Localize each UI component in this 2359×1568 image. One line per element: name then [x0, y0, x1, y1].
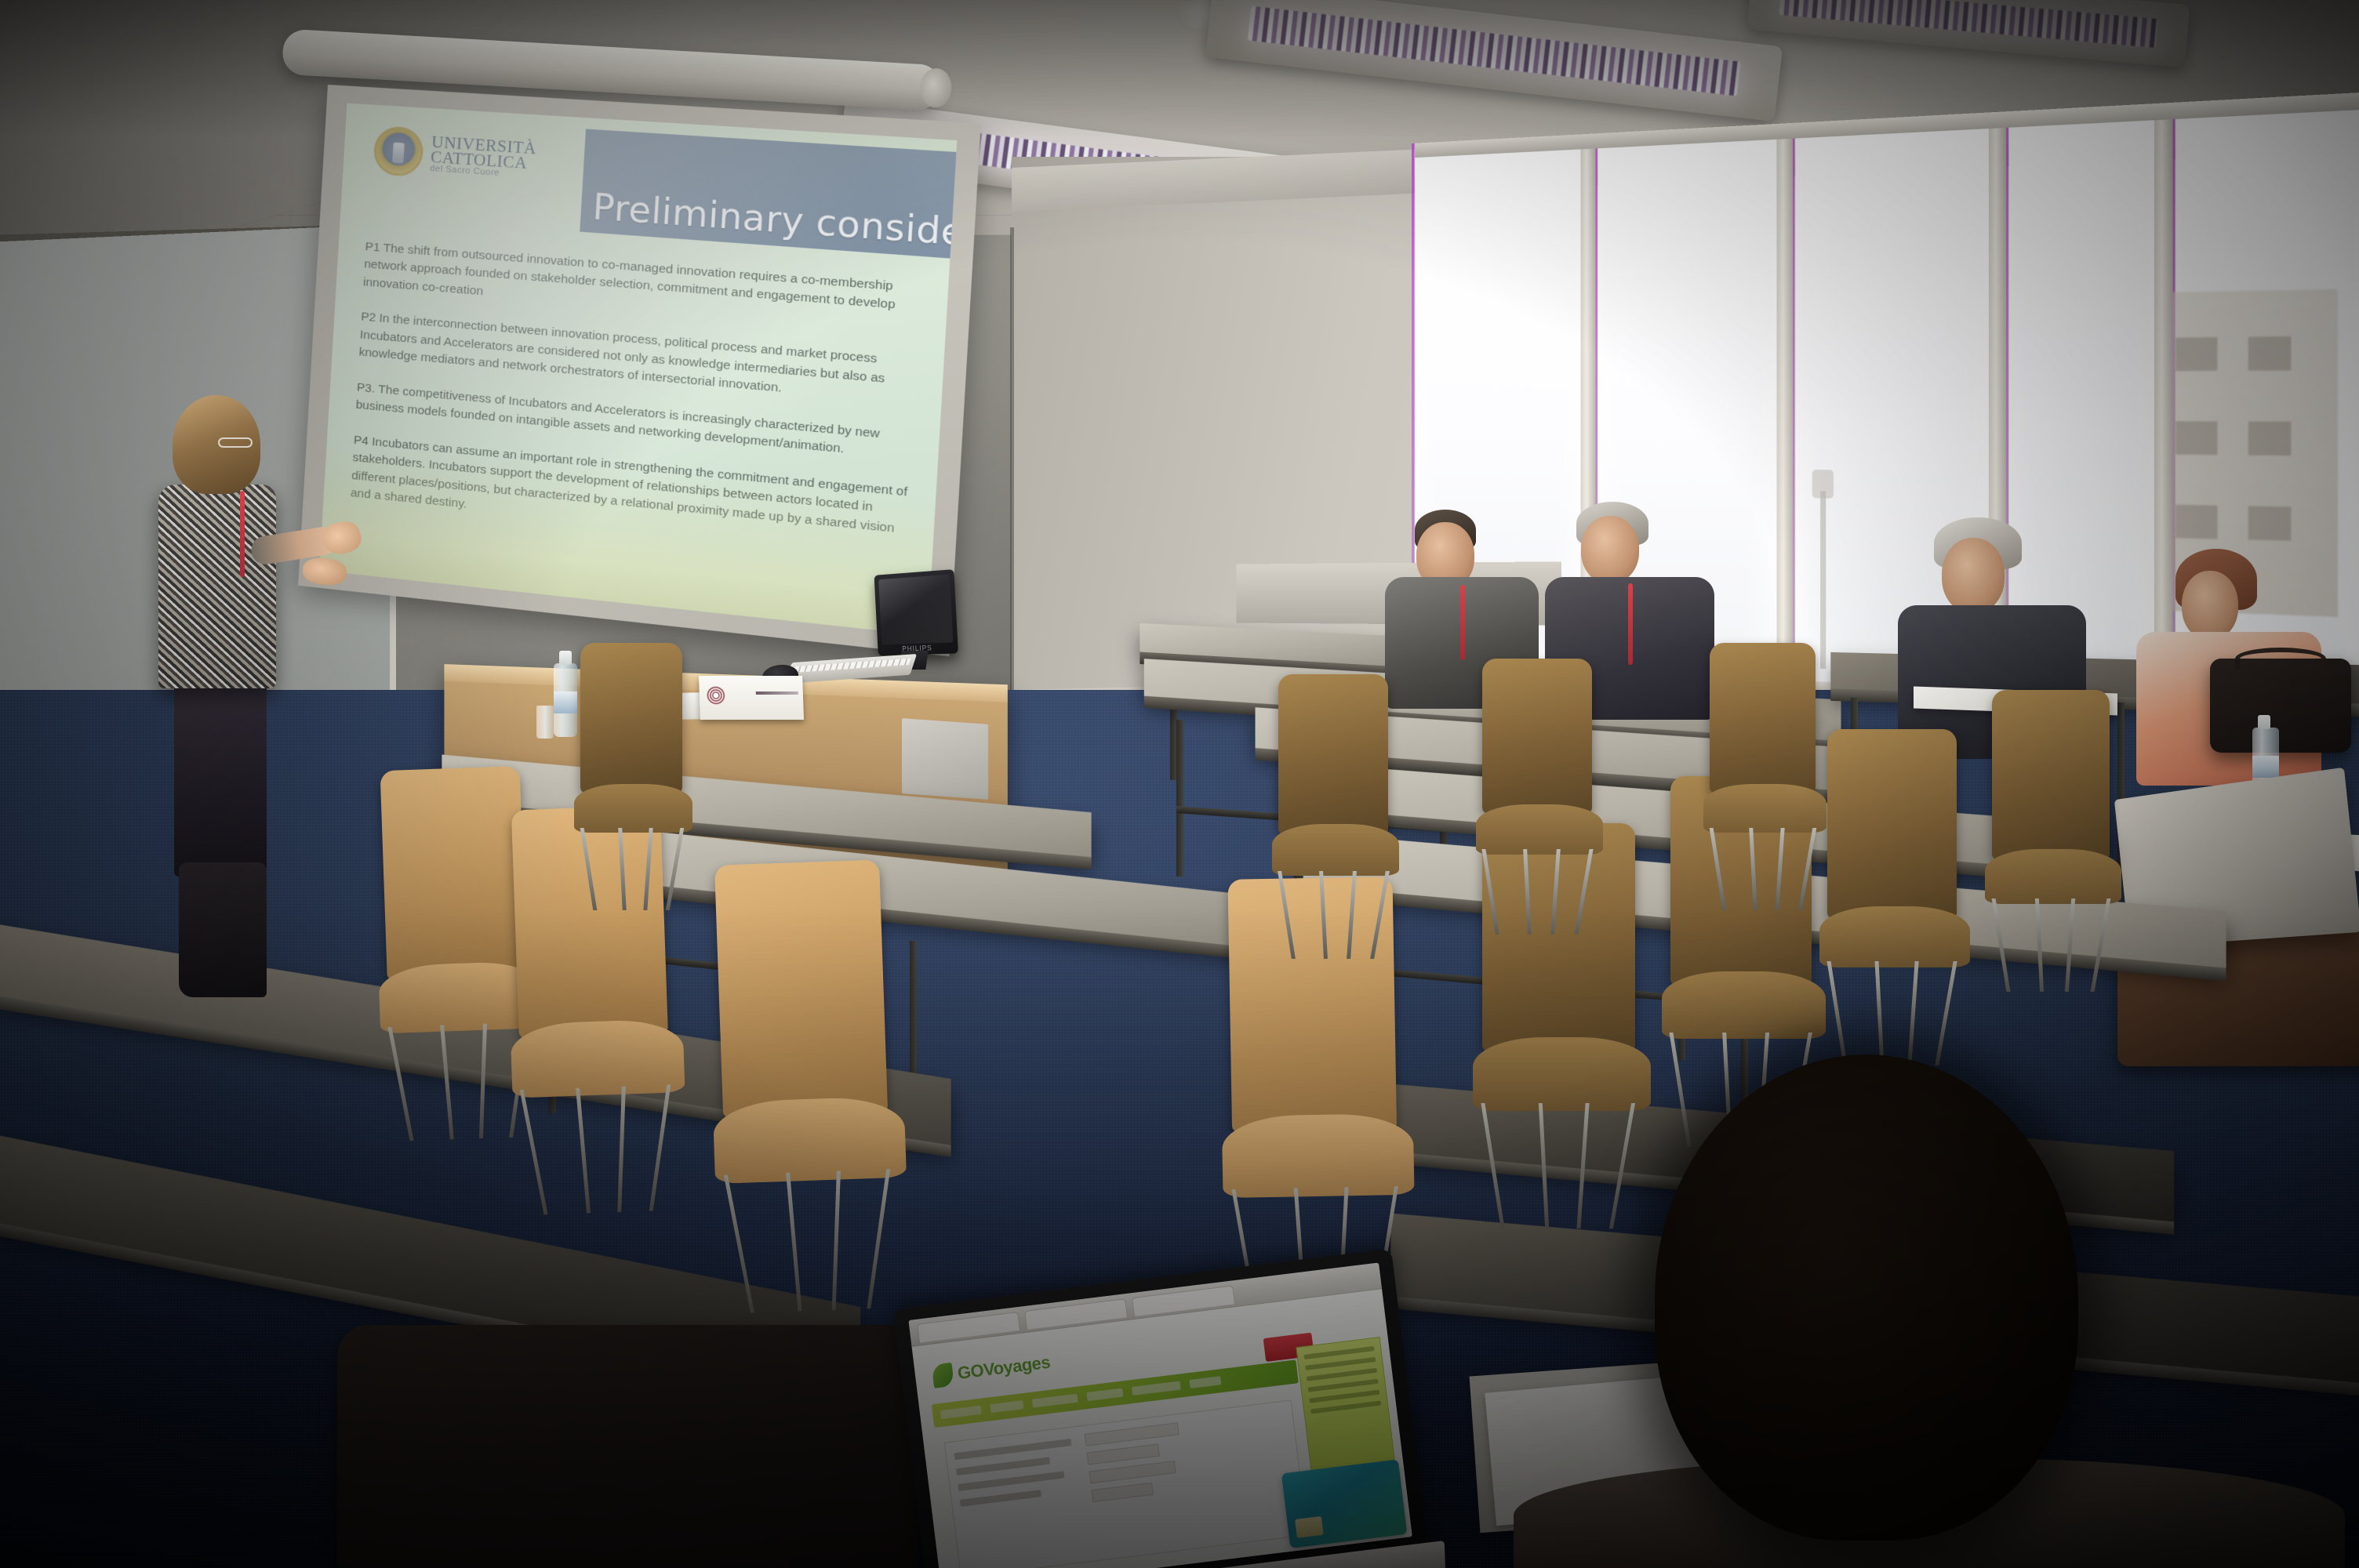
payment-card-graphic: [1281, 1459, 1408, 1548]
university-logo: UNIVERSITÀ CATTOLICA del Sacro Cuore: [373, 125, 537, 185]
handbag: [2210, 659, 2351, 753]
legs: [174, 674, 267, 877]
lamppost-outside: [1820, 491, 1826, 669]
computer-monitor: PHILIPS: [874, 569, 958, 655]
head: [1581, 516, 1639, 583]
laptop-screen[interactable]: GOVoyages: [908, 1263, 1412, 1568]
foreground-person-head: [1655, 1054, 2078, 1541]
backpack: [337, 1325, 918, 1568]
presentation-slide: UNIVERSITÀ CATTOLICA del Sacro Cuore Pre…: [319, 103, 957, 636]
chair[interactable]: [1278, 674, 1388, 933]
slide-body: P1 The shift from outsourced innovation …: [349, 238, 922, 576]
head: [2182, 571, 2238, 640]
site-name: GOVoyages: [957, 1352, 1052, 1384]
booking-form[interactable]: [944, 1399, 1308, 1568]
lanyard: [240, 491, 245, 577]
name-card: [699, 676, 804, 720]
chair[interactable]: [1482, 659, 1592, 909]
seal-icon: [706, 686, 725, 705]
head: [1942, 538, 2005, 613]
leaf-icon: [932, 1363, 954, 1388]
water-bottle: [554, 663, 577, 737]
lanyard: [1628, 583, 1633, 665]
chair[interactable]: [1992, 690, 2110, 964]
chair[interactable]: [1710, 643, 1816, 886]
chair[interactable]: [714, 859, 893, 1272]
chair[interactable]: [380, 766, 532, 1108]
chair[interactable]: [1827, 729, 1957, 1035]
site-logo: GOVoyages: [932, 1351, 1052, 1388]
desk-side-panel: [902, 718, 988, 800]
presenter-person: [132, 392, 328, 988]
slide-title: Preliminary considerations: [591, 187, 957, 264]
plastic-cup: [536, 706, 554, 739]
crest-icon: [373, 125, 424, 177]
jacket: [158, 485, 276, 688]
lanyard: [1460, 585, 1465, 660]
chair[interactable]: [580, 643, 682, 886]
slide-title-band: Preliminary considerations: [580, 129, 957, 267]
classroom-scene: UNIVERSITÀ CATTOLICA del Sacro Cuore Pre…: [0, 0, 2359, 1568]
projection-screen: UNIVERSITÀ CATTOLICA del Sacro Cuore Pre…: [298, 85, 981, 656]
boots: [179, 862, 267, 997]
glasses-icon: [218, 437, 253, 448]
